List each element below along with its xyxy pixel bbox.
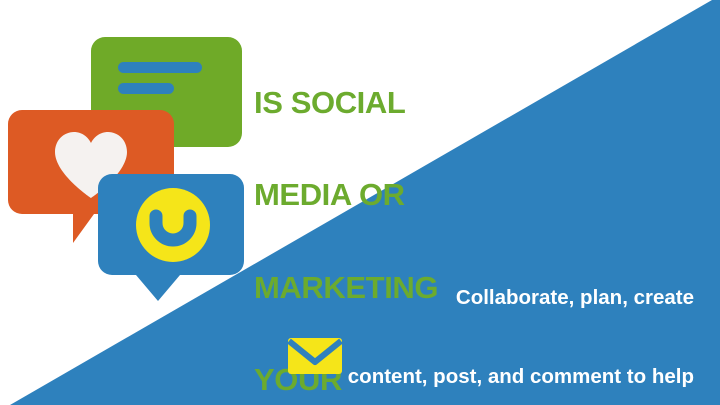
poster-canvas: IS SOCIAL MEDIA OR MARKETING YOUR THING?… — [0, 0, 720, 405]
bubble-text-line-1 — [118, 62, 202, 73]
speech-bubble-smiley-icon — [98, 174, 244, 301]
headline-line-2: MEDIA OR — [254, 180, 438, 211]
headline-line-1: IS SOCIAL — [254, 88, 438, 119]
body-line-1: Collaborate, plan, create — [274, 285, 694, 311]
bubble-text-line-2 — [118, 83, 174, 94]
smiley-face-circle — [136, 188, 210, 262]
speech-bubble-cluster — [8, 22, 258, 307]
body-copy: Collaborate, plan, create content, post,… — [274, 232, 694, 405]
envelope-icon — [287, 336, 343, 376]
